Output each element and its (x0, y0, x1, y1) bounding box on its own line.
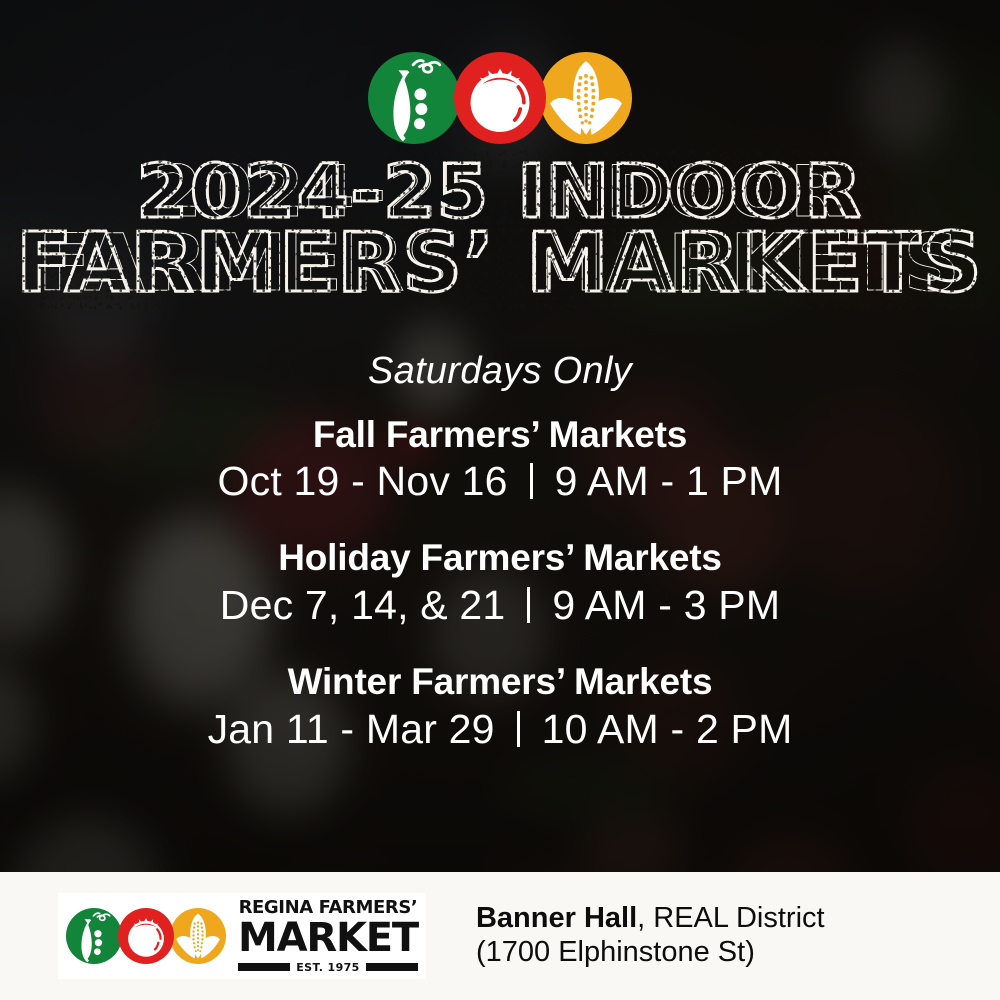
regina-farmers-market-logo: REGINA FARMERS’ MARKET EST. 1975 (58, 893, 426, 979)
separator-bar (527, 587, 530, 623)
market-dates: Jan 11 - Mar 29 (208, 704, 495, 754)
brand-icon-trio-small (66, 908, 226, 964)
pea-pod-icon (368, 52, 460, 144)
corn-icon (540, 52, 632, 144)
market-dates: Oct 19 - Nov 16 (218, 456, 508, 506)
market-name: Fall Farmers’ Markets (0, 413, 1000, 457)
brand-icon-trio (368, 52, 632, 144)
venue-address: (1700 Elphinstone St) (476, 936, 825, 970)
venue-name-line: Banner Hall, REAL District (476, 902, 825, 936)
wordmark-main-line: MARKET (238, 918, 418, 959)
wordmark-est-label: EST. 1975 (296, 962, 360, 973)
title-line-2: FARMERS’ MARKETSFARMERS’ MARKETS (16, 226, 983, 301)
page-title: 2024-25 INDOOR2024-25 INDOOR FARMERS’ MA… (16, 158, 983, 302)
market-hours: 9 AM - 3 PM (552, 580, 780, 630)
venue-name: Banner Hall (476, 902, 637, 934)
market-name: Holiday Farmers’ Markets (0, 536, 1000, 580)
tomato-icon (118, 908, 174, 964)
title-inline-stroke: FARMERS’ MARKETS (38, 228, 962, 300)
market-block-winter: Winter Farmers’ Markets Jan 11 - Mar 29 … (0, 660, 1000, 754)
market-schedule: Dec 7, 14, & 21 9 AM - 3 PM (0, 580, 1000, 630)
market-block-fall: Fall Farmers’ Markets Oct 19 - Nov 16 9 … (0, 413, 1000, 507)
market-schedule: Jan 11 - Mar 29 10 AM - 2 PM (0, 704, 1000, 754)
pea-pod-icon (66, 908, 122, 964)
market-hours: 10 AM - 2 PM (542, 704, 793, 754)
wordmark-est-row: EST. 1975 (238, 962, 418, 973)
tomato-icon (454, 52, 546, 144)
venue-info: Banner Hall, REAL District (1700 Elphins… (476, 902, 825, 969)
footer: REGINA FARMERS’ MARKET EST. 1975 Banner … (0, 872, 1000, 1000)
rule-right (366, 963, 418, 971)
title-inline-stroke: 2024-25 INDOOR (153, 160, 847, 225)
market-hours: 9 AM - 1 PM (555, 456, 783, 506)
market-list: Fall Farmers’ Markets Oct 19 - Nov 16 9 … (0, 413, 1000, 754)
poster-content: 2024-25 INDOOR2024-25 INDOOR FARMERS’ MA… (0, 0, 1000, 872)
corn-icon (170, 908, 226, 964)
wordmark: REGINA FARMERS’ MARKET EST. 1975 (238, 899, 418, 973)
market-block-holiday: Holiday Farmers’ Markets Dec 7, 14, & 21… (0, 536, 1000, 630)
poster: 2024-25 INDOOR2024-25 INDOOR FARMERS’ MA… (0, 0, 1000, 1000)
separator-bar (530, 463, 533, 499)
separator-bar (517, 711, 520, 747)
market-name: Winter Farmers’ Markets (0, 660, 1000, 704)
venue-district: , REAL District (637, 902, 824, 934)
rule-left (238, 963, 290, 971)
market-dates: Dec 7, 14, & 21 (220, 580, 506, 630)
subtitle-saturdays-only: Saturdays Only (368, 350, 632, 393)
market-schedule: Oct 19 - Nov 16 9 AM - 1 PM (0, 456, 1000, 506)
